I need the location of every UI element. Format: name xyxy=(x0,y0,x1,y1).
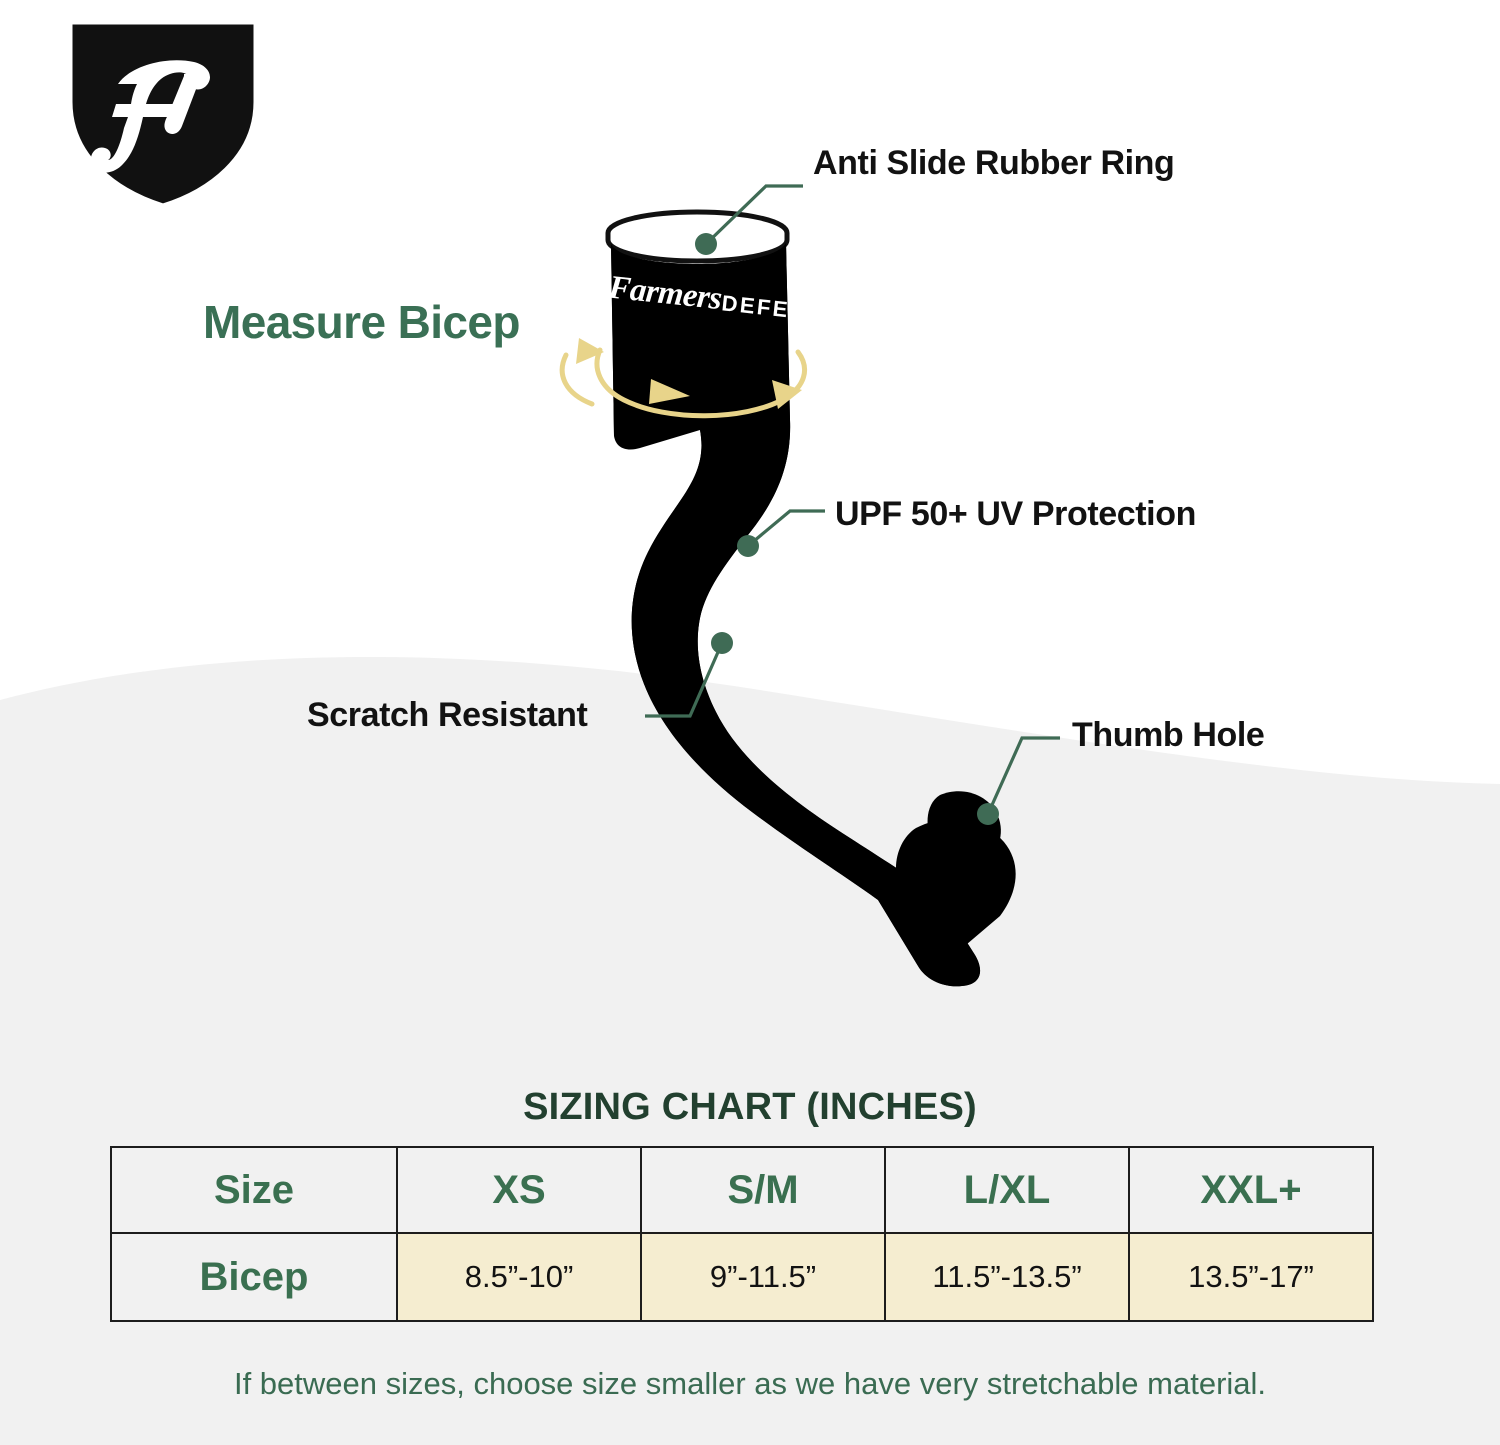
sleeve-silhouette xyxy=(608,212,1016,986)
sizing-chart-table: Size XS S/M L/XL XXL+ Bicep 8.5”-10” 9”-… xyxy=(110,1146,1374,1322)
table-header-size: Size xyxy=(111,1147,397,1233)
table-header-xxl: XXL+ xyxy=(1129,1147,1373,1233)
sizing-chart-note: If between sizes, choose size smaller as… xyxy=(0,1366,1500,1402)
table-cell-bicep-sm: 9”-11.5” xyxy=(641,1233,885,1321)
measure-bicep-label: Measure Bicep xyxy=(203,299,520,345)
table-row-bicep: Bicep 8.5”-10” 9”-11.5” 11.5”-13.5” 13.5… xyxy=(111,1233,1373,1321)
table-header-row: Size XS S/M L/XL XXL+ xyxy=(111,1147,1373,1233)
callout-label-thumb-hole: Thumb Hole xyxy=(1072,718,1264,752)
table-cell-bicep-xxl: 13.5”-17” xyxy=(1129,1233,1373,1321)
callout-label-anti-slide-rubber-ring: Anti Slide Rubber Ring xyxy=(813,146,1174,180)
sizing-infographic: Farmers DEFENSE Anti Slide Rubber Rin xyxy=(0,0,1500,1445)
table-header-xs: XS xyxy=(397,1147,641,1233)
callout-label-scratch-resistant: Scratch Resistant xyxy=(307,698,587,732)
table-row-label-bicep: Bicep xyxy=(111,1233,397,1321)
table-cell-bicep-lxl: 11.5”-13.5” xyxy=(885,1233,1129,1321)
table-header-sm: S/M xyxy=(641,1147,885,1233)
callout-label-upf-uv-protection: UPF 50+ UV Protection xyxy=(835,497,1196,531)
shield-f-logo-icon xyxy=(58,16,268,211)
sizing-chart-title: SIZING CHART (INCHES) xyxy=(0,1086,1500,1129)
table-cell-bicep-xs: 8.5”-10” xyxy=(397,1233,641,1321)
table-header-lxl: L/XL xyxy=(885,1147,1129,1233)
